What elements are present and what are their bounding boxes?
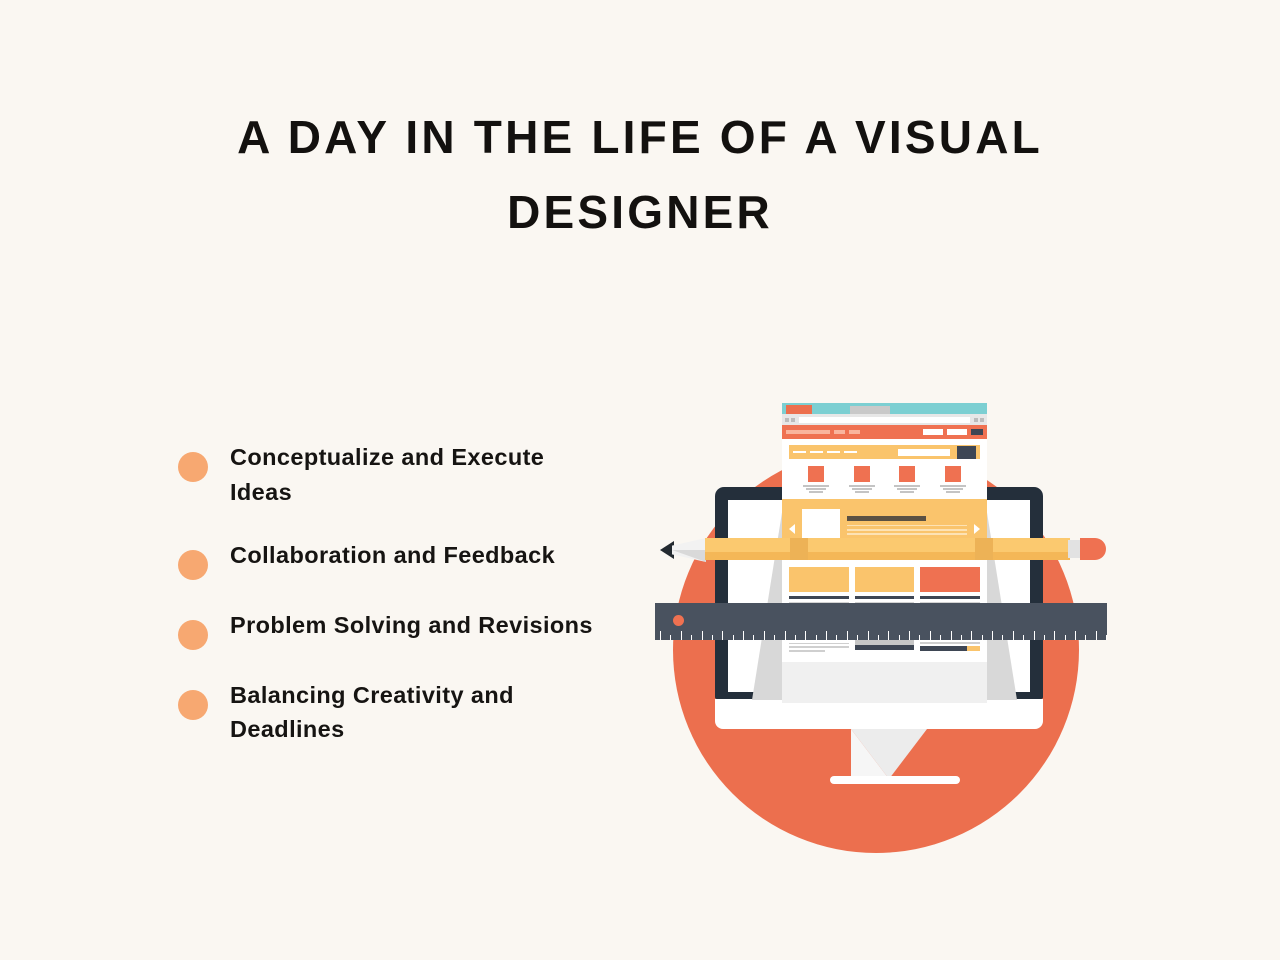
nav-link[interactable] [834,430,845,434]
article-text-line [920,642,980,644]
ruler-hole-icon [673,615,684,626]
ruler [655,603,1107,640]
list-item-label: Collaboration and Feedback [230,538,555,573]
designer-workspace-illustration [655,390,1115,860]
site-navigation-bar [782,425,987,439]
article-text-line [789,650,825,652]
feature-item[interactable] [800,466,832,493]
search-button[interactable] [957,446,976,459]
feature-text-line [943,488,963,490]
browser-tab-inactive[interactable] [850,406,890,414]
menu-item[interactable] [844,451,857,454]
card-title [855,596,915,599]
ruler-tick-marks [655,629,1107,640]
card-thumbnail [920,567,980,592]
pencil-tip-icon [660,541,674,559]
search-input[interactable] [898,449,950,456]
card-thumbnail [855,567,915,592]
pencil-band [975,538,993,560]
pencil [660,535,1110,565]
feature-text-line [803,485,829,487]
url-input[interactable] [799,417,970,423]
forward-arrow-icon[interactable] [791,418,795,422]
feature-text-line [940,485,966,487]
list-item-label: Balancing Creativity and Deadlines [230,678,608,748]
browser-tab-active[interactable] [786,405,812,414]
browser-url-bar [782,414,987,425]
pencil-band [790,538,808,560]
nav-button[interactable] [947,429,967,435]
list-item[interactable]: Conceptualize and Execute Ideas [178,440,608,510]
monitor-stand-shadow [851,729,889,779]
card-thumbnail [789,567,849,592]
feature-icon [899,466,915,482]
hero-text-line [847,525,967,527]
feature-text-line [946,491,960,493]
feature-text-line [852,488,872,490]
list-item[interactable]: Problem Solving and Revisions [178,608,608,650]
progress-bar [920,646,980,651]
pencil-body-shadow [705,552,1070,560]
feature-item[interactable] [846,466,878,493]
feature-text-line [894,485,920,487]
page-content [782,439,987,499]
article-text-line [789,646,849,648]
browser-tab-bar [782,403,987,414]
feature-item[interactable] [891,466,923,493]
site-menu-search-bar [789,445,980,459]
page-title: A DAY IN THE LIFE OF A VISUAL DESIGNER [150,100,1130,249]
feature-text-line [806,488,826,490]
feature-icon-row [789,459,980,499]
progress-fill [967,646,980,651]
list-item[interactable]: Collaboration and Feedback [178,538,608,580]
card-title [789,596,849,599]
site-logo[interactable] [786,430,830,434]
hero-text-line [847,529,967,531]
chevron-left-icon[interactable] [789,524,795,534]
feature-text-line [897,488,917,490]
feature-text-line [855,491,869,493]
menu-icon[interactable] [980,418,984,422]
slide-canvas: A DAY IN THE LIFE OF A VISUAL DESIGNER C… [0,0,1280,960]
feature-text-line [809,491,823,493]
list-item-label: Problem Solving and Revisions [230,608,593,643]
nav-button[interactable] [923,429,943,435]
bookmark-icon[interactable] [974,418,978,422]
feature-text-line [900,491,914,493]
article-text-line [789,643,849,645]
feature-icon [808,466,824,482]
feature-icon [854,466,870,482]
bullet-dot-icon [178,620,208,650]
card-title [920,596,980,599]
feature-item[interactable] [937,466,969,493]
nav-link[interactable] [849,430,860,434]
monitor-chin [715,699,1043,729]
list-item-label: Conceptualize and Execute Ideas [230,440,608,510]
menu-item[interactable] [810,451,823,454]
video-control-bar[interactable] [855,645,915,650]
feature-text-line [849,485,875,487]
back-arrow-icon[interactable] [785,418,789,422]
bullet-list: Conceptualize and Execute Ideas Collabor… [178,440,608,775]
chevron-right-icon[interactable] [974,524,980,534]
feature-icon [945,466,961,482]
nav-button-primary[interactable] [971,429,983,435]
bullet-dot-icon [178,690,208,720]
bullet-dot-icon [178,452,208,482]
monitor-stand-base [830,776,960,784]
bullet-dot-icon [178,550,208,580]
menu-item[interactable] [793,451,806,454]
hero-heading [847,516,926,521]
menu-item[interactable] [827,451,840,454]
list-item[interactable]: Balancing Creativity and Deadlines [178,678,608,748]
pencil-eraser [1080,538,1106,560]
